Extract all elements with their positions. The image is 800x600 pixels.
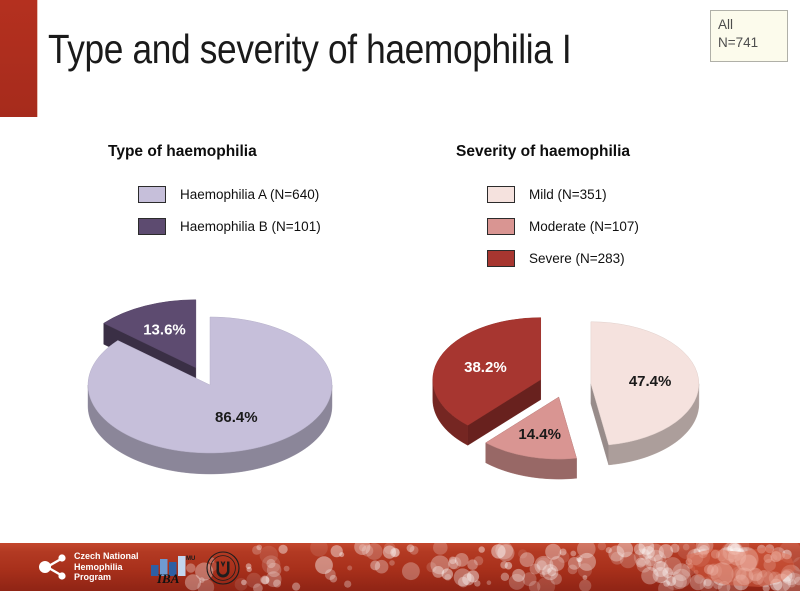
legend-severity-of-haemophilia: Mild (N=351) Moderate (N=107) Severe (N=… [487, 178, 639, 274]
legend-item[interactable]: Mild (N=351) [487, 178, 639, 210]
chnp-line-2: Hemophilia [74, 562, 139, 573]
chnp-logo-text: Czech National Hemophilia Program [74, 551, 139, 583]
legend-item-label: Moderate (N=107) [529, 219, 639, 234]
iba-logo: MU IBA [148, 552, 200, 583]
svg-text:IBA: IBA [156, 571, 180, 583]
legend-item-label: Haemophilia A (N=640) [180, 187, 319, 202]
legend-type-of-haemophilia: Haemophilia A (N=640) Haemophilia B (N=1… [138, 178, 321, 242]
molecule-icon [38, 552, 68, 582]
panel-heading-type: Type of haemophilia [108, 143, 257, 161]
slide-canvas: Type and severity of haemophilia I All N… [0, 0, 800, 600]
chnp-line-1: Czech National [74, 551, 139, 562]
panel-heading-severity: Severity of haemophilia [456, 143, 630, 161]
footer-band: Czech National Hemophilia Program MU IBA [0, 543, 800, 591]
legend-item[interactable]: Severe (N=283) [487, 242, 639, 274]
legend-item-label: Mild (N=351) [529, 187, 607, 202]
cohort-badge: All N=741 [710, 10, 788, 62]
chnp-line-3: Program [74, 572, 139, 583]
pie-chart-type-of-haemophilia: 86.4%13.6% [60, 285, 360, 485]
svg-text:MU: MU [186, 556, 195, 562]
left-accent-bar [0, 0, 38, 117]
legend-swatch-icon [487, 218, 515, 235]
legend-item[interactable]: Haemophilia B (N=101) [138, 210, 321, 242]
pie-chart-severity-svg: 47.4%14.4%38.2% [410, 280, 720, 490]
pie-chart-severity-of-haemophilia: 47.4%14.4%38.2% [410, 280, 720, 490]
legend-swatch-icon [487, 186, 515, 203]
page-title: Type and severity of haemophilia I [48, 20, 607, 78]
legend-item[interactable]: Haemophilia A (N=640) [138, 178, 321, 210]
legend-item[interactable]: Moderate (N=107) [487, 210, 639, 242]
legend-item-label: Severe (N=283) [529, 251, 625, 266]
czech-national-hemophilia-program-logo: Czech National Hemophilia Program [38, 551, 139, 583]
cohort-badge-label: All [718, 16, 787, 34]
legend-swatch-icon [487, 250, 515, 267]
legend-item-label: Haemophilia B (N=101) [180, 219, 321, 234]
cohort-badge-count: N=741 [718, 34, 787, 52]
legend-swatch-icon [138, 218, 166, 235]
legend-swatch-icon [138, 186, 166, 203]
pie-chart-type-svg: 86.4%13.6% [60, 285, 360, 485]
masaryk-university-seal [206, 551, 240, 585]
